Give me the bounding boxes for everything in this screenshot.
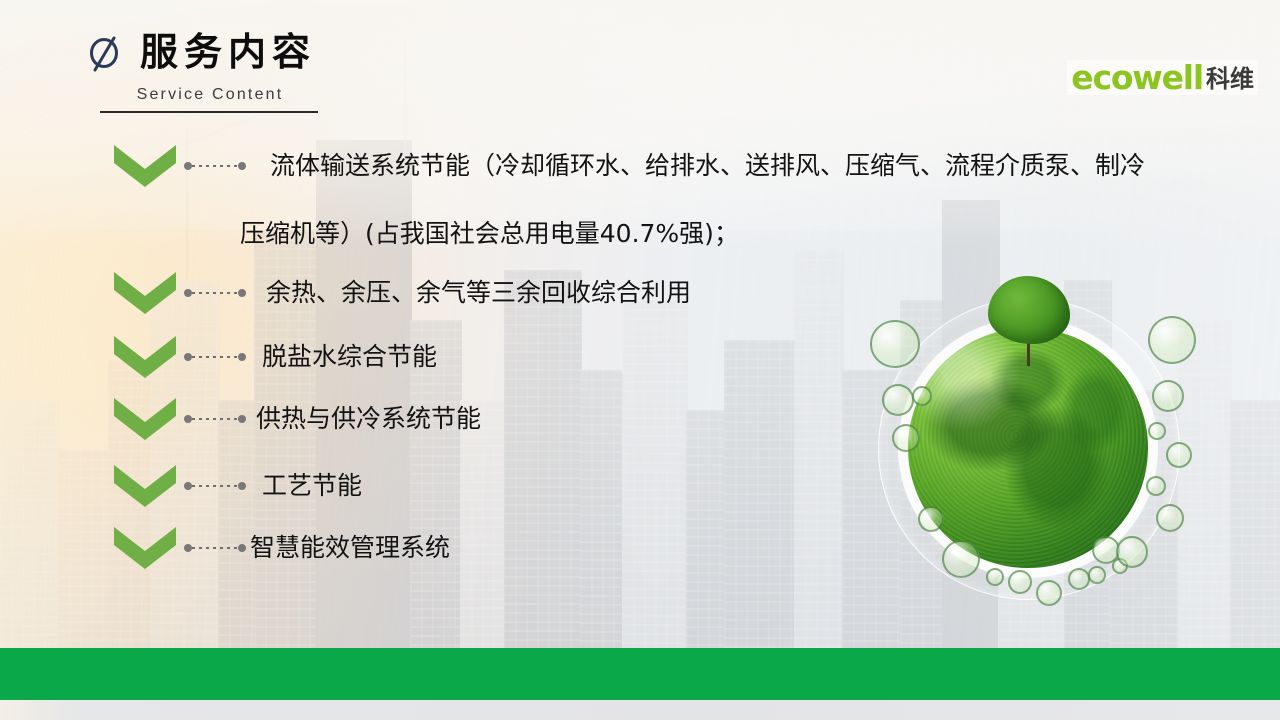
chevron-down-icon: [112, 396, 178, 442]
slide-canvas: 服务内容 Service Content ecowell 科维 流体输送系统节能…: [0, 0, 1280, 720]
bubble: [1156, 504, 1184, 532]
bubble: [1036, 580, 1062, 606]
list-item-label-continued: 压缩机等）(占我国社会总用电量40.7%强)；: [240, 214, 739, 250]
bubble: [1148, 422, 1166, 440]
tree-canopy-icon: [988, 276, 1070, 344]
bubble: [1008, 570, 1032, 594]
connector-line: [184, 414, 246, 424]
bubble: [1148, 316, 1196, 364]
bubble: [1088, 566, 1106, 584]
connector-line: [184, 161, 246, 171]
chevron-down-icon: [112, 334, 178, 380]
chevron-down-icon: [112, 270, 178, 316]
bubble: [912, 386, 932, 406]
bubble: [1152, 380, 1184, 412]
bubble: [882, 384, 914, 416]
list-item[interactable]: 流体输送系统节能（冷却循环水、给排水、送排风、压缩气、流程介质泵、制冷: [112, 143, 1145, 189]
bubble: [1116, 536, 1148, 568]
chevron-down-icon: [112, 143, 178, 189]
bubble: [942, 540, 980, 578]
globe-artwork: [860, 268, 1230, 638]
bubble: [918, 506, 944, 532]
connector-line: [184, 352, 246, 362]
list-item[interactable]: 供热与供冷系统节能: [112, 396, 481, 442]
list-item-label: 脱盐水综合节能: [262, 341, 437, 372]
list-item-label: 工艺节能: [262, 470, 362, 501]
bubble: [870, 320, 920, 368]
bubble: [892, 424, 920, 452]
bubble: [1146, 476, 1166, 496]
list-item[interactable]: 工艺节能: [112, 463, 362, 509]
bubble: [986, 568, 1004, 586]
list-item-label: 智慧能效管理系统: [250, 532, 450, 563]
bubble: [1068, 568, 1090, 590]
footer-strip: [0, 700, 1280, 720]
list-item-label: 余热、余压、余气等三余回收综合利用: [266, 277, 691, 308]
chevron-down-icon: [112, 525, 178, 571]
chevron-down-icon: [112, 463, 178, 509]
list-item[interactable]: 智慧能效管理系统: [112, 525, 450, 571]
footer-green-bar: [0, 648, 1280, 700]
list-item[interactable]: 脱盐水综合节能: [112, 334, 437, 380]
list-item-label: 供热与供冷系统节能: [256, 403, 481, 434]
connector-line: [184, 288, 246, 298]
connector-line: [184, 543, 246, 553]
list-item-label: 流体输送系统节能（冷却循环水、给排水、送排风、压缩气、流程介质泵、制冷: [270, 150, 1145, 181]
connector-line: [184, 481, 246, 491]
list-item[interactable]: 余热、余压、余气等三余回收综合利用: [112, 270, 691, 316]
bubble: [1166, 442, 1192, 468]
